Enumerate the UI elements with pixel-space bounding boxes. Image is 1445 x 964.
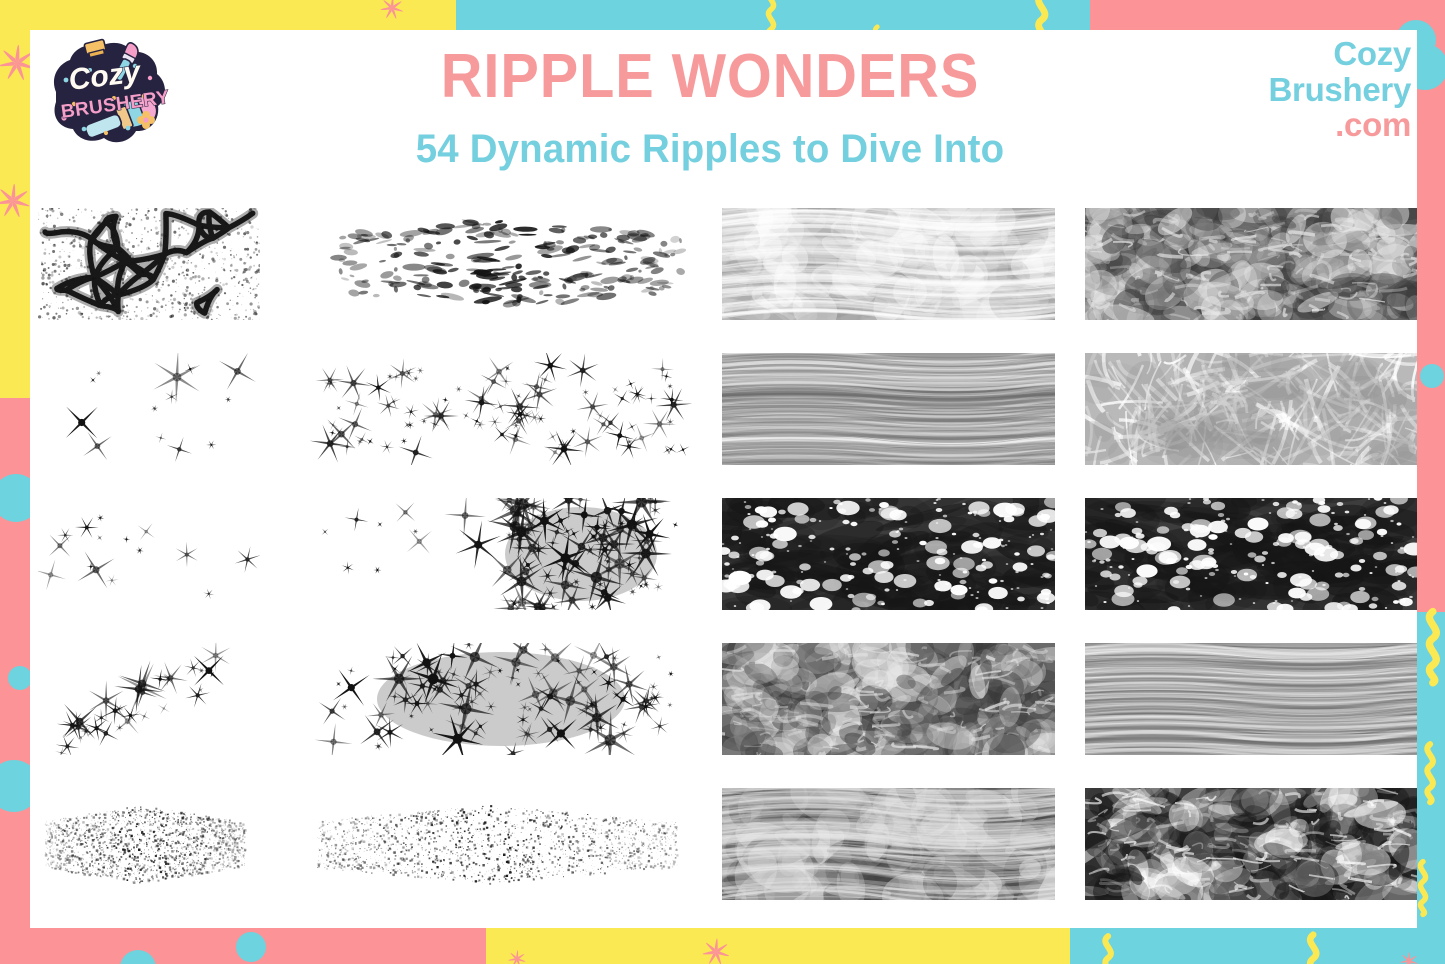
brandmark-line2: Brushery — [1269, 71, 1412, 108]
title-block: RIPPLE WONDERS 54 Dynamic Ripples to Div… — [190, 44, 1230, 171]
content-panel: Cozy BRUSHERY RIPPLE WONDERS 54 Dynamic … — [30, 30, 1417, 928]
cozy-brushery-logo[interactable]: Cozy BRUSHERY — [40, 34, 180, 160]
sparkle-cluster-brush[interactable] — [305, 353, 705, 465]
border-band-left-pink — [0, 398, 30, 964]
corner-top-right — [1417, 0, 1445, 72]
border-band-right-teal — [1417, 612, 1445, 964]
corner-bottom-left — [0, 920, 30, 964]
star-burst-brush[interactable] — [38, 498, 260, 610]
water-photo-shallow-caustics[interactable] — [1085, 353, 1417, 465]
star-dense-smudge-brush[interactable] — [305, 498, 705, 610]
brush-sample-row — [30, 208, 1417, 348]
fine-grain-spray-brush[interactable] — [305, 788, 705, 900]
water-photo-riverbed[interactable] — [722, 643, 1055, 755]
diagonal-sparkle-brush[interactable] — [38, 643, 260, 755]
water-photo-glitter-dark[interactable] — [722, 498, 1055, 610]
page-subtitle: 54 Dynamic Ripples to Dive Into — [211, 127, 1209, 171]
water-photo-sun-glints[interactable] — [1085, 498, 1417, 610]
poster-canvas: Cozy BRUSHERY RIPPLE WONDERS 54 Dynamic … — [0, 0, 1445, 964]
speckle-spray-brush[interactable] — [38, 788, 260, 900]
dash-flecks-brush[interactable] — [305, 208, 705, 320]
star-grid-brush[interactable] — [305, 643, 705, 755]
brush-sample-row — [30, 498, 1417, 638]
brush-sample-row — [30, 353, 1417, 493]
sparkle-small-brush[interactable] — [38, 353, 260, 465]
corner-top-left — [0, 0, 30, 72]
border-band-right-pink — [1417, 0, 1445, 612]
brush-sample-grid — [30, 208, 1417, 928]
water-photo-shore-chop[interactable] — [1085, 643, 1417, 755]
brandmark-dotcom: .com — [1269, 107, 1412, 143]
brandmark[interactable]: Cozy Brushery .com — [1269, 36, 1412, 143]
water-photo-soft-ripple[interactable] — [722, 208, 1055, 320]
brush-sample-row — [30, 643, 1417, 783]
water-photo-rocky-shallows[interactable] — [1085, 788, 1417, 900]
water-photo-pebble-caustics[interactable] — [1085, 208, 1417, 320]
water-photo-wave-lines[interactable] — [722, 353, 1055, 465]
page-title: RIPPLE WONDERS — [226, 44, 1193, 109]
brush-sample-row — [30, 788, 1417, 928]
crackle-texture-brush[interactable] — [38, 208, 260, 320]
brandmark-line1: Cozy — [1333, 35, 1411, 72]
corner-bottom-right — [1417, 920, 1445, 964]
water-photo-rippled-sand[interactable] — [722, 788, 1055, 900]
